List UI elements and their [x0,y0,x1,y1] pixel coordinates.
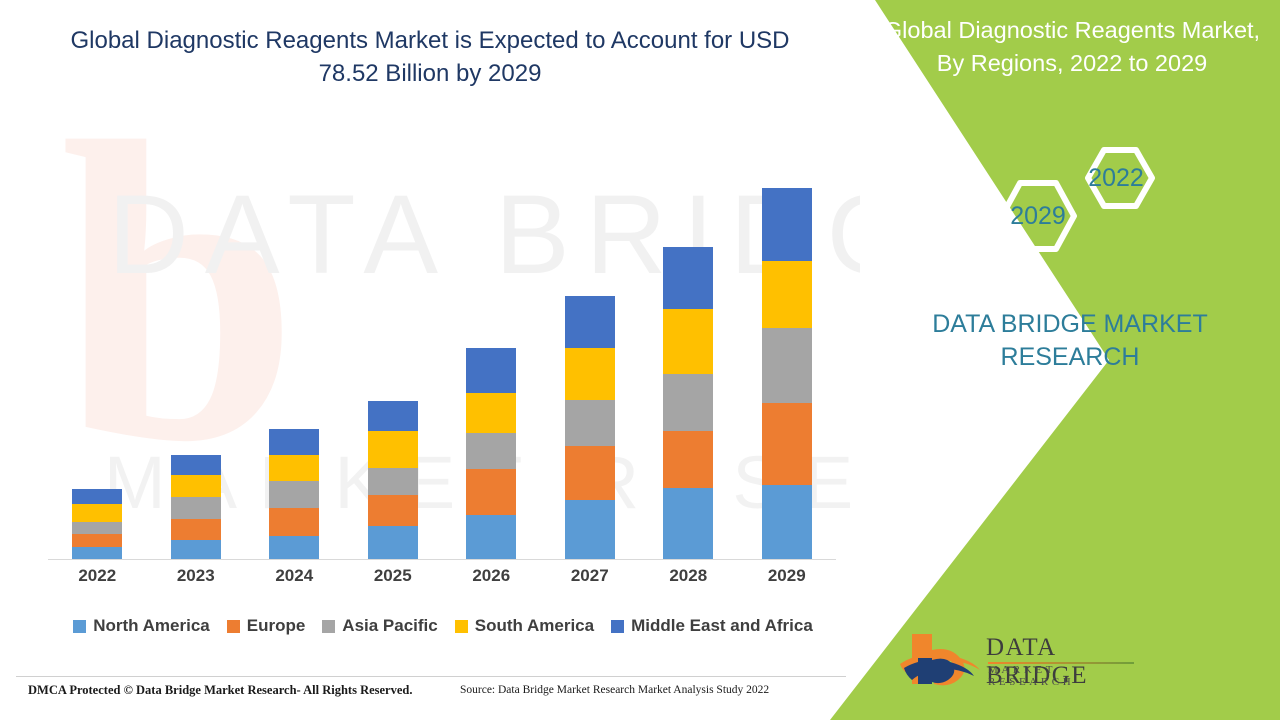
x-axis-labels: 20222023202420252026202720282029 [48,566,836,586]
bar-segment-south-america[interactable] [269,455,319,481]
bar-segment-europe[interactable] [171,519,221,540]
source-text: Source: Data Bridge Market Research Mark… [460,684,769,696]
bar-segment-europe[interactable] [762,403,812,485]
legend-item-europe[interactable]: Europe [227,616,306,636]
chart-legend: North AmericaEuropeAsia PacificSouth Ame… [48,616,838,636]
bar-segment-middle-east-and-africa[interactable] [368,401,418,431]
stacked-bar[interactable] [171,455,221,560]
legend-item-middle-east-and-africa[interactable]: Middle East and Africa [611,616,813,636]
bar-segment-south-america[interactable] [171,475,221,497]
stacked-bar-chart [48,120,836,560]
bar-segment-europe[interactable] [72,534,122,547]
bar-segment-north-america[interactable] [762,485,812,560]
bar-column-2028[interactable] [644,120,732,560]
bar-segment-asia-pacific[interactable] [269,481,319,508]
logo-subtitle: MARKET RESEARCH [988,664,1138,688]
bar-column-2026[interactable] [447,120,535,560]
bar-column-2022[interactable] [53,120,141,560]
bar-segment-north-america[interactable] [368,526,418,560]
bar-segment-asia-pacific[interactable] [466,433,516,469]
x-axis-label-2024: 2024 [250,566,338,586]
logo-mark-icon [898,630,984,688]
infographic-canvas: b DATA BRIDGE MARKET RESEARCH Global Dia… [0,0,1280,720]
bar-segment-south-america[interactable] [368,431,418,468]
copyright-text: DMCA Protected © Data Bridge Market Rese… [28,683,413,698]
bar-segment-middle-east-and-africa[interactable] [171,455,221,475]
bar-segment-south-america[interactable] [762,261,812,328]
stacked-bar[interactable] [663,247,713,560]
chart-plot-area [48,120,836,560]
bar-column-2025[interactable] [349,120,437,560]
bar-segment-europe[interactable] [269,508,319,536]
bar-column-2024[interactable] [250,120,338,560]
stacked-bar[interactable] [368,401,418,560]
legend-item-asia-pacific[interactable]: Asia Pacific [322,616,437,636]
bar-segment-asia-pacific[interactable] [72,522,122,534]
logo-b-stem-blue [918,658,932,684]
bar-segment-south-america[interactable] [663,309,713,374]
bar-segment-middle-east-and-africa[interactable] [72,489,122,504]
bar-segment-middle-east-and-africa[interactable] [663,247,713,309]
legend-label: Middle East and Africa [631,616,813,636]
legend-swatch-icon [73,620,86,633]
bar-column-2023[interactable] [152,120,240,560]
bar-segment-europe[interactable] [466,469,516,515]
stacked-bar[interactable] [762,188,812,560]
bar-segment-south-america[interactable] [72,504,122,522]
year-hexagons: 2022 2029 [988,138,1188,283]
stacked-bar[interactable] [269,429,319,560]
bar-segment-asia-pacific[interactable] [762,328,812,403]
hexagon-start-year-label: 2022 [1088,164,1144,192]
bar-segment-europe[interactable] [565,446,615,500]
legend-label: South America [475,616,594,636]
bar-segment-middle-east-and-africa[interactable] [466,348,516,393]
x-axis-label-2022: 2022 [53,566,141,586]
legend-label: Asia Pacific [342,616,437,636]
x-axis-label-2026: 2026 [447,566,535,586]
bar-segment-middle-east-and-africa[interactable] [762,188,812,261]
bar-column-2027[interactable] [546,120,634,560]
bar-segment-middle-east-and-africa[interactable] [269,429,319,455]
stacked-bar[interactable] [72,489,122,560]
bar-segment-north-america[interactable] [565,500,615,560]
bar-segment-europe[interactable] [368,495,418,526]
x-axis-label-2028: 2028 [644,566,732,586]
x-axis-label-2029: 2029 [743,566,831,586]
legend-label: Europe [247,616,306,636]
page-title: Global Diagnostic Reagents Market is Exp… [70,24,790,90]
bar-segment-europe[interactable] [663,431,713,488]
legend-swatch-icon [455,620,468,633]
data-bridge-logo: DATA BRIDGE MARKET RESEARCH [898,630,1138,692]
stacked-bar[interactable] [466,348,516,560]
hexagon-end-year-label: 2029 [1010,202,1066,230]
x-axis-label-2023: 2023 [152,566,240,586]
legend-swatch-icon [227,620,240,633]
bar-segment-north-america[interactable] [466,515,516,560]
brand-name: DATA BRIDGE MARKET RESEARCH [880,308,1260,374]
legend-item-south-america[interactable]: South America [455,616,594,636]
legend-swatch-icon [322,620,335,633]
bar-segment-asia-pacific[interactable] [565,400,615,446]
x-axis-label-2027: 2027 [546,566,634,586]
bar-segment-north-america[interactable] [171,540,221,560]
stacked-bar[interactable] [565,296,615,560]
panel-title: Global Diagnostic Reagents Market, By Re… [872,14,1272,80]
bar-segment-asia-pacific[interactable] [368,468,418,495]
bar-segment-north-america[interactable] [663,488,713,560]
bar-segment-south-america[interactable] [565,348,615,400]
bar-column-2029[interactable] [743,120,831,560]
legend-label: North America [93,616,210,636]
legend-swatch-icon [611,620,624,633]
legend-item-north-america[interactable]: North America [73,616,210,636]
x-axis-line [48,559,836,560]
x-axis-label-2025: 2025 [349,566,437,586]
bar-segment-south-america[interactable] [466,393,516,433]
bar-segment-asia-pacific[interactable] [663,374,713,431]
bar-segment-north-america[interactable] [269,536,319,560]
hexagon-svg: 2022 2029 [988,138,1188,283]
bar-segment-asia-pacific[interactable] [171,497,221,519]
bar-segment-middle-east-and-africa[interactable] [565,296,615,348]
footer-divider [16,676,846,677]
